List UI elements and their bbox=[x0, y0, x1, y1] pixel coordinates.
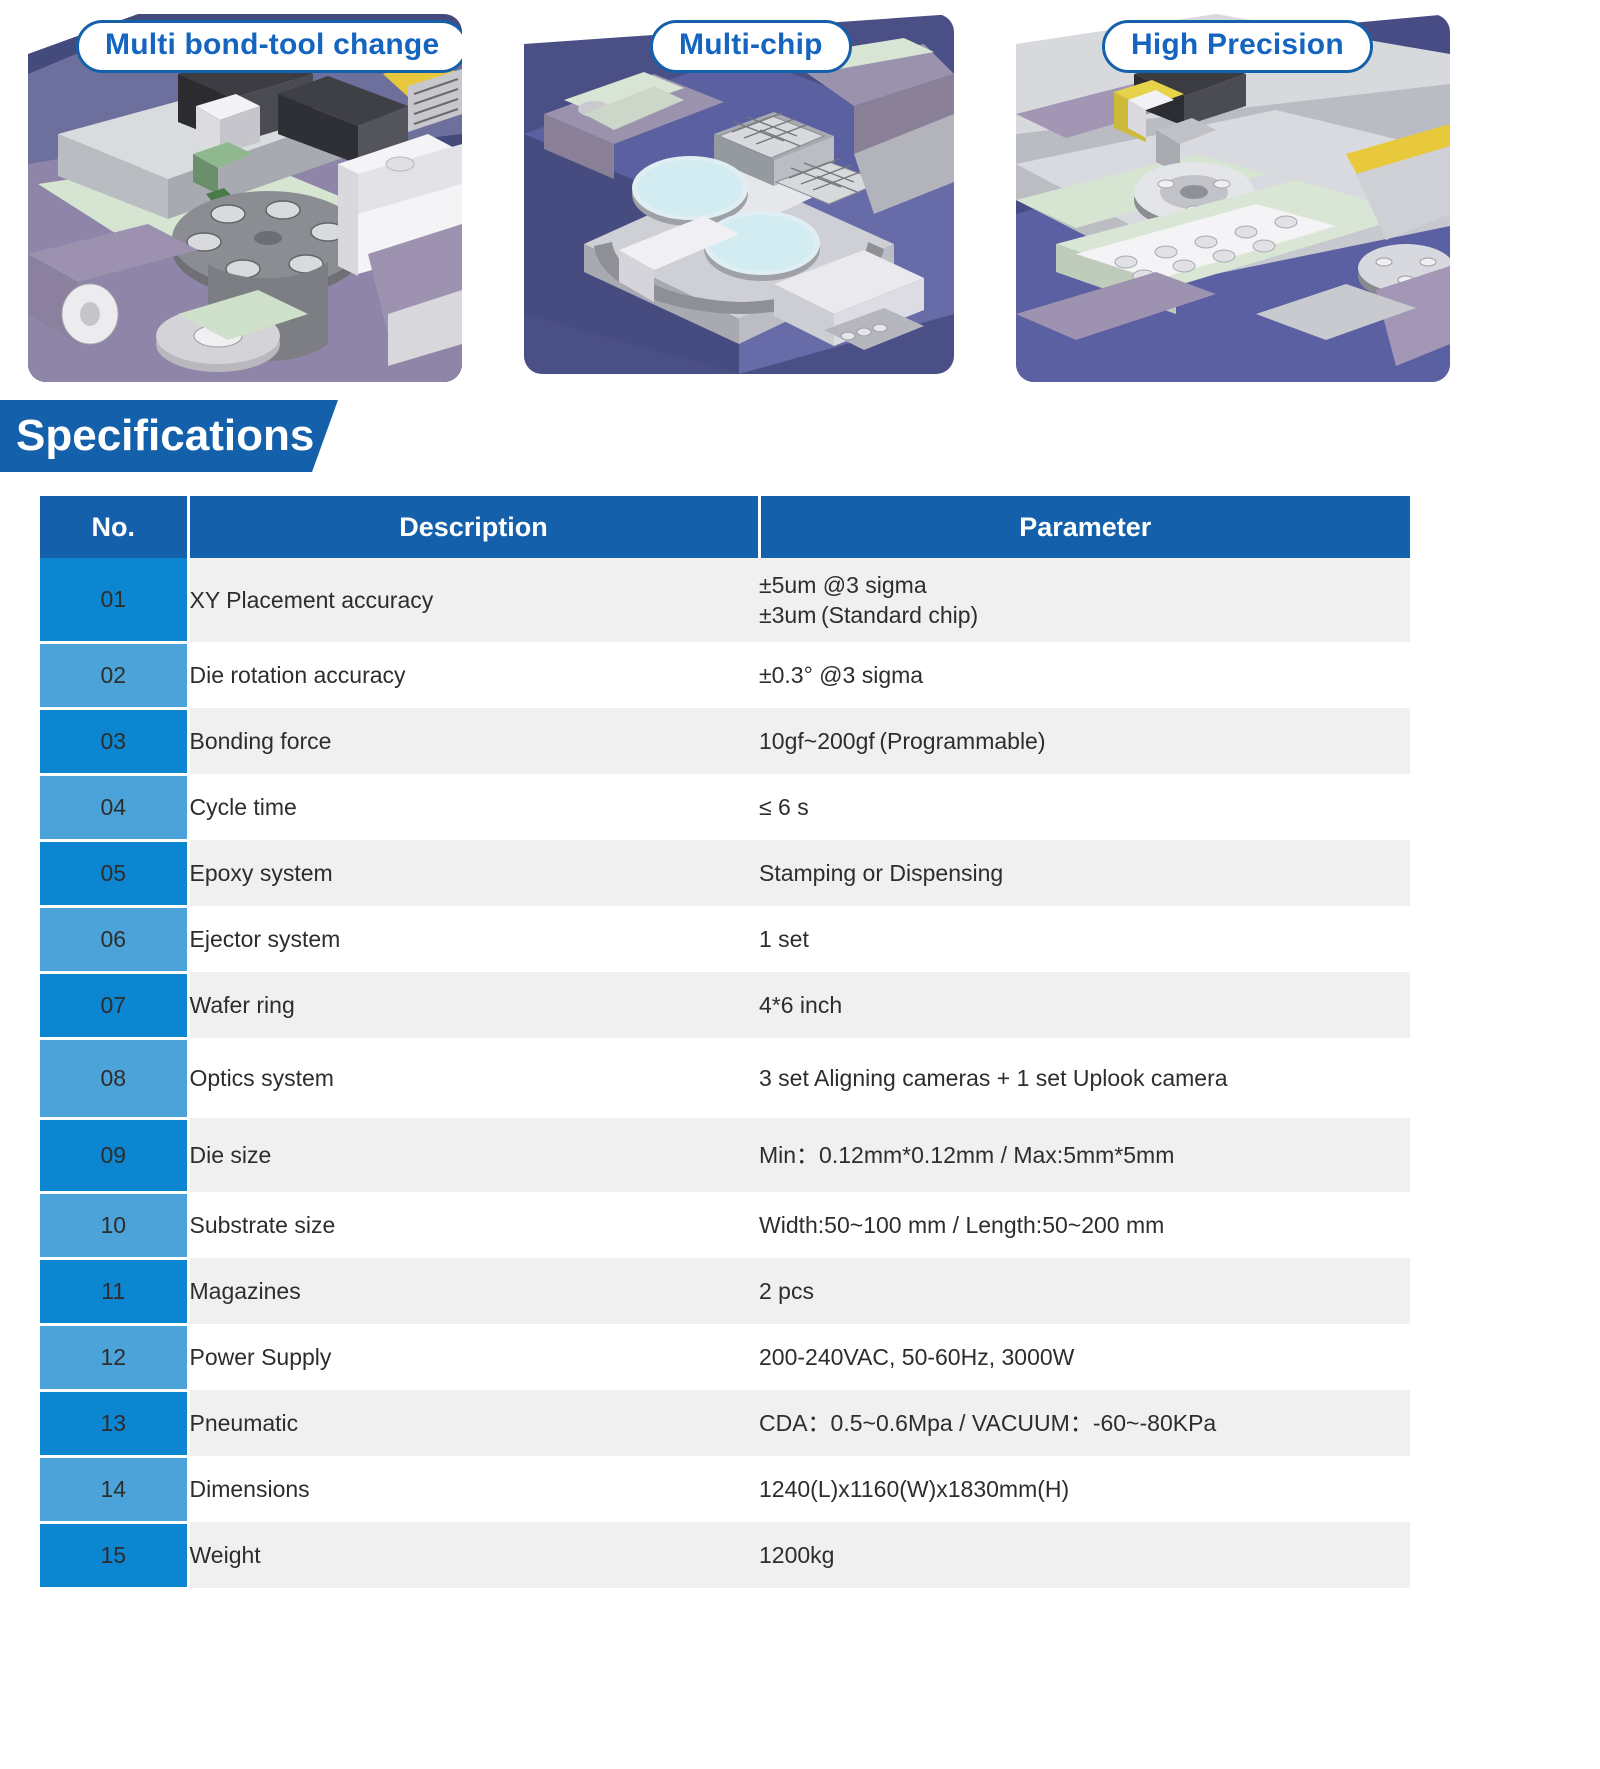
table-row: 05Epoxy systemStamping or Dispensing bbox=[40, 840, 1410, 906]
product-image-multi-bond-tool-change: Multi bond-tool change bbox=[28, 14, 462, 382]
product-image-high-precision: High Precision bbox=[1016, 14, 1450, 382]
row-description: Epoxy system bbox=[188, 840, 759, 906]
specifications-page: Multi bond-tool change bbox=[0, 0, 1600, 1769]
row-number: 10 bbox=[40, 1192, 188, 1258]
row-parameter-line: ±3um (Standard chip) bbox=[759, 600, 1410, 630]
photo-badge-high-precision: High Precision bbox=[1102, 20, 1373, 73]
row-description: Optics system bbox=[188, 1038, 759, 1118]
row-parameter-line: Width:50~100 mm / Length:50~200 mm bbox=[759, 1210, 1410, 1240]
row-number: 06 bbox=[40, 906, 188, 972]
row-number: 01 bbox=[40, 558, 188, 642]
table-row: 14Dimensions1240(L)x1160(W)x1830mm(H) bbox=[40, 1456, 1410, 1522]
row-parameter-line: Min：0.12mm*0.12mm / Max:5mm*5mm bbox=[759, 1140, 1410, 1170]
table-row: 07Wafer ring4*6 inch bbox=[40, 972, 1410, 1038]
row-parameter-line: 1240(L)x1160(W)x1830mm(H) bbox=[759, 1474, 1410, 1504]
row-description: XY Placement accuracy bbox=[188, 558, 759, 642]
product-image-gallery: Multi bond-tool change bbox=[28, 14, 1576, 382]
table-row: 06Ejector system1 set bbox=[40, 906, 1410, 972]
table-body: 01XY Placement accuracy±5um @3 sigma±3um… bbox=[40, 558, 1410, 1588]
product-image-multi-chip: Multi-chip bbox=[524, 14, 954, 374]
table-row: 10Substrate sizeWidth:50~100 mm / Length… bbox=[40, 1192, 1410, 1258]
row-description: Bonding force bbox=[188, 708, 759, 774]
table-row: 01XY Placement accuracy±5um @3 sigma±3um… bbox=[40, 558, 1410, 642]
row-parameter: 1 set bbox=[759, 906, 1410, 972]
row-parameter-line: 1200kg bbox=[759, 1540, 1410, 1570]
column-header-parameter: Parameter bbox=[759, 496, 1410, 558]
row-parameter-line: 4*6 inch bbox=[759, 990, 1410, 1020]
row-parameter: 3 set Aligning cameras + 1 set Uplook ca… bbox=[759, 1038, 1410, 1118]
row-parameter-line: 10gf~200gf (Programmable) bbox=[759, 726, 1410, 756]
row-parameter-line: CDA：0.5~0.6Mpa / VACUUM：-60~-80KPa bbox=[759, 1408, 1410, 1438]
row-number: 05 bbox=[40, 840, 188, 906]
table-row: 15Weight1200kg bbox=[40, 1522, 1410, 1588]
row-number: 13 bbox=[40, 1390, 188, 1456]
row-number: 12 bbox=[40, 1324, 188, 1390]
specifications-table: No. Description Parameter 01XY Placement… bbox=[40, 496, 1410, 1590]
table-row: 03Bonding force10gf~200gf (Programmable) bbox=[40, 708, 1410, 774]
row-parameter-line: ±5um @3 sigma bbox=[759, 570, 1410, 600]
row-number: 04 bbox=[40, 774, 188, 840]
row-description: Cycle time bbox=[188, 774, 759, 840]
row-description: Dimensions bbox=[188, 1456, 759, 1522]
row-parameter: Min：0.12mm*0.12mm / Max:5mm*5mm bbox=[759, 1118, 1410, 1192]
row-parameter: ≤ 6 s bbox=[759, 774, 1410, 840]
row-parameter: CDA：0.5~0.6Mpa / VACUUM：-60~-80KPa bbox=[759, 1390, 1410, 1456]
table-header: No. Description Parameter bbox=[40, 496, 1410, 558]
row-parameter: 4*6 inch bbox=[759, 972, 1410, 1038]
table-row: 04Cycle time≤ 6 s bbox=[40, 774, 1410, 840]
table-header-row: No. Description Parameter bbox=[40, 496, 1410, 558]
table-row: 12Power Supply200-240VAC, 50-60Hz, 3000W bbox=[40, 1324, 1410, 1390]
photo-badge-multi-chip: Multi-chip bbox=[650, 20, 852, 73]
table-row: 02Die rotation accuracy±0.3° @3 sigma bbox=[40, 642, 1410, 708]
row-description: Die rotation accuracy bbox=[188, 642, 759, 708]
table-row: 13PneumaticCDA：0.5~0.6Mpa / VACUUM：-60~-… bbox=[40, 1390, 1410, 1456]
row-parameter: 200-240VAC, 50-60Hz, 3000W bbox=[759, 1324, 1410, 1390]
row-parameter: 2 pcs bbox=[759, 1258, 1410, 1324]
row-parameter-line: 2 pcs bbox=[759, 1276, 1410, 1306]
row-number: 07 bbox=[40, 972, 188, 1038]
row-number: 03 bbox=[40, 708, 188, 774]
row-number: 08 bbox=[40, 1038, 188, 1118]
row-description: Power Supply bbox=[188, 1324, 759, 1390]
row-parameter-line: 1 set bbox=[759, 924, 1410, 954]
row-description: Pneumatic bbox=[188, 1390, 759, 1456]
row-parameter-line: ≤ 6 s bbox=[759, 792, 1410, 822]
column-header-no: No. bbox=[40, 496, 188, 558]
table-row: 08Optics system3 set Aligning cameras + … bbox=[40, 1038, 1410, 1118]
column-header-description: Description bbox=[188, 496, 759, 558]
row-parameter: ±5um @3 sigma±3um (Standard chip) bbox=[759, 558, 1410, 642]
row-number: 15 bbox=[40, 1522, 188, 1588]
row-number: 11 bbox=[40, 1258, 188, 1324]
row-parameter: Width:50~100 mm / Length:50~200 mm bbox=[759, 1192, 1410, 1258]
table-row: 11Magazines2 pcs bbox=[40, 1258, 1410, 1324]
row-parameter: Stamping or Dispensing bbox=[759, 840, 1410, 906]
row-description: Substrate size bbox=[188, 1192, 759, 1258]
specifications-section-title: Specifications bbox=[0, 400, 338, 472]
row-parameter: ±0.3° @3 sigma bbox=[759, 642, 1410, 708]
row-number: 02 bbox=[40, 642, 188, 708]
row-description: Die size bbox=[188, 1118, 759, 1192]
row-description: Magazines bbox=[188, 1258, 759, 1324]
row-number: 14 bbox=[40, 1456, 188, 1522]
row-parameter-line: 3 set Aligning cameras + 1 set Uplook ca… bbox=[759, 1063, 1410, 1093]
table-row: 09Die sizeMin：0.12mm*0.12mm / Max:5mm*5m… bbox=[40, 1118, 1410, 1192]
row-number: 09 bbox=[40, 1118, 188, 1192]
row-description: Ejector system bbox=[188, 906, 759, 972]
row-parameter-line: Stamping or Dispensing bbox=[759, 858, 1410, 888]
row-description: Wafer ring bbox=[188, 972, 759, 1038]
row-parameter-line: ±0.3° @3 sigma bbox=[759, 660, 1410, 690]
row-parameter-line: 200-240VAC, 50-60Hz, 3000W bbox=[759, 1342, 1410, 1372]
row-parameter: 1240(L)x1160(W)x1830mm(H) bbox=[759, 1456, 1410, 1522]
row-parameter: 1200kg bbox=[759, 1522, 1410, 1588]
photo-badge-multi-bond-tool-change: Multi bond-tool change bbox=[76, 20, 462, 73]
row-description: Weight bbox=[188, 1522, 759, 1588]
row-parameter: 10gf~200gf (Programmable) bbox=[759, 708, 1410, 774]
